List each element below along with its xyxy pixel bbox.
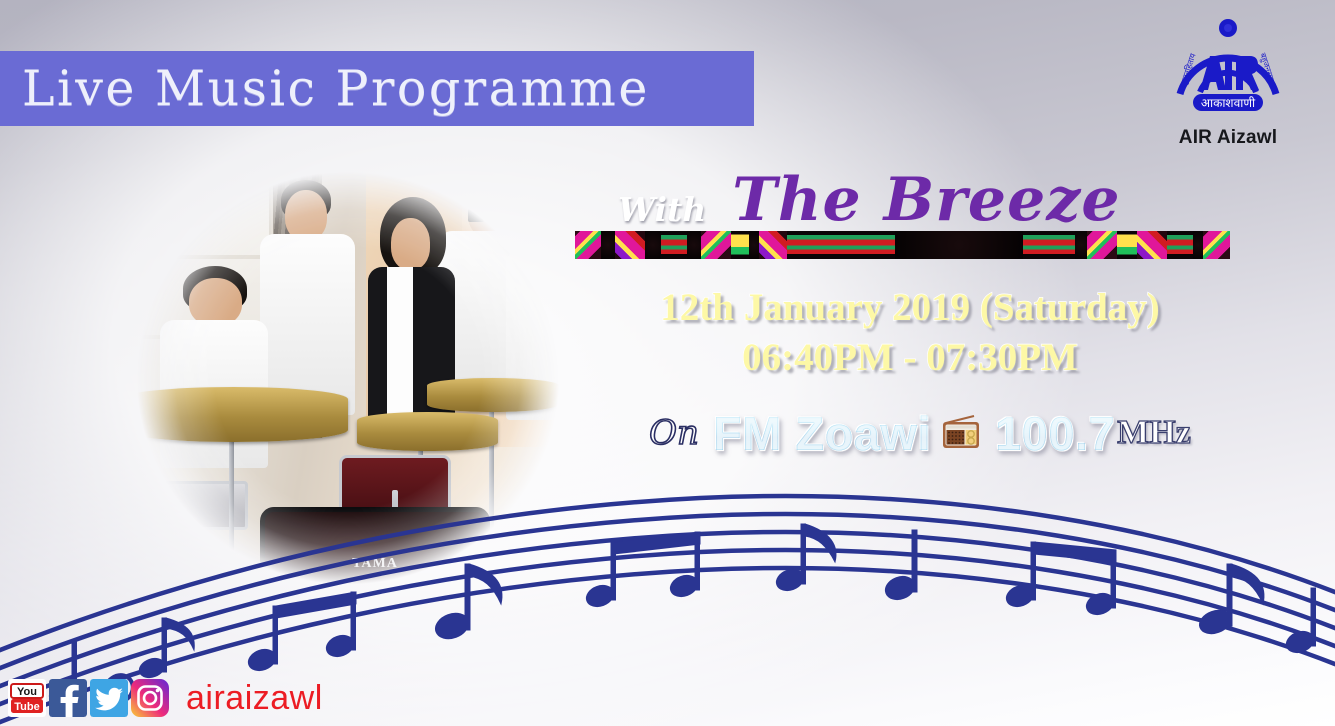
cymbal [128, 387, 348, 443]
frequency-unit: MHz [1117, 416, 1191, 450]
artist-name: The Breeze [732, 170, 1120, 230]
air-logo-caption: AIR Aizawl [1163, 127, 1293, 149]
instagram-icon[interactable] [131, 679, 169, 717]
poster-canvas: Live Music Programme आकाशवाणी बहुजनहिताय… [0, 0, 1335, 726]
twitter-icon[interactable] [90, 679, 128, 717]
facebook-icon[interactable] [49, 679, 87, 717]
social-handle: airaizawl [186, 679, 323, 718]
youtube-icon[interactable]: You Tube [8, 679, 46, 717]
page-title: Live Music Programme [22, 64, 650, 113]
event-time: 06:40PM - 07:30PM [580, 338, 1240, 377]
with-label: With [618, 193, 706, 226]
event-date: 12th January 2019 (Saturday) [580, 288, 1240, 327]
title-banner: Live Music Programme [0, 51, 754, 126]
air-logo: आकाशवाणी बहुजनहिताय बहुजनसुखाय AIR Aizaw… [1163, 8, 1293, 158]
eyeglasses [468, 209, 507, 222]
cymbal [427, 378, 559, 412]
svg-text:आकाशवाणी: आकाशवाणी [1201, 96, 1256, 110]
on-label: On [649, 416, 699, 450]
air-logo-icon: आकाशवाणी बहुजनहिताय बहुजनसुखाय [1166, 8, 1290, 126]
artist-line: With The Breeze [618, 168, 1258, 230]
svg-text:Tube: Tube [14, 701, 39, 713]
mizo-puanchei-strip [575, 231, 1230, 259]
svg-text:You: You [17, 686, 37, 698]
social-footer: You Tube airaizawl [8, 676, 323, 720]
